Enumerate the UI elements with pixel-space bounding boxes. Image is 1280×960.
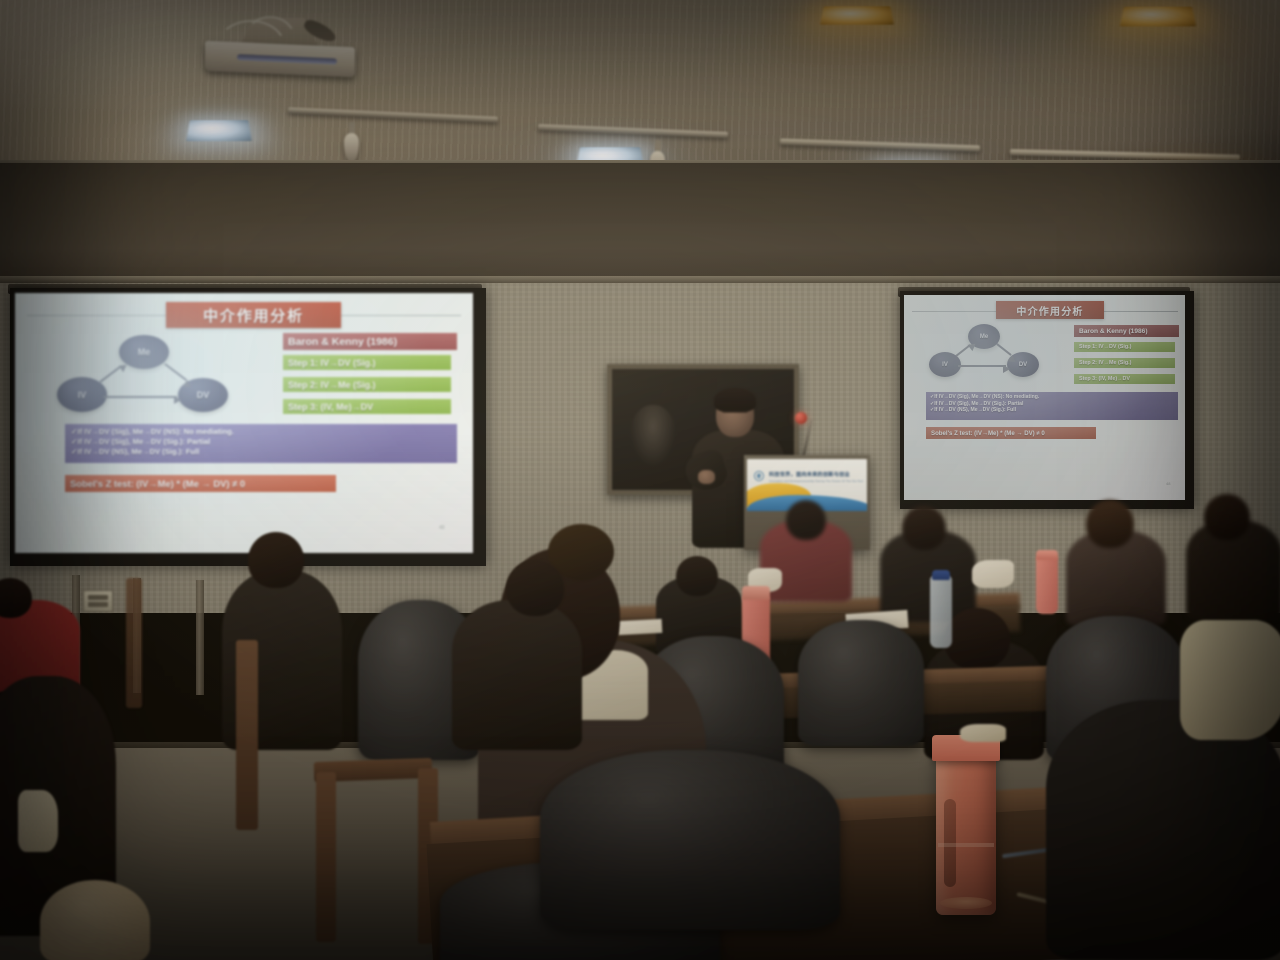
wall-panel-strip (196, 580, 204, 695)
slide-page-number: 48 (1166, 481, 1170, 486)
thermos-cap (742, 586, 770, 600)
person-head (1204, 494, 1250, 540)
ceiling-texture (0, 0, 1280, 170)
panel-light-5 (1120, 7, 1196, 27)
ceiling-projector (199, 18, 359, 74)
podium-headline: 科技世界，面向未来的创新与创业 (769, 471, 863, 478)
condition-line-3: ✓If IV→DV (NS), Me→DV (Sig.): Full (930, 407, 1174, 414)
person-head-foreground (40, 880, 150, 960)
edge-iv-dv-head (1003, 365, 1010, 373)
speaker-glasses (722, 408, 748, 413)
person-head (506, 560, 564, 616)
thermos-cap (1036, 550, 1058, 560)
person-torso (452, 600, 582, 750)
power-outlet (83, 590, 113, 612)
projection-screen-right-frame: 中介作用分析 Me IV DV Baron & Kenny (1986) Ste… (900, 291, 1194, 509)
thermos-pink-right (1036, 556, 1058, 614)
step-bar-3: Step 3: (IV, Me)→DV (283, 399, 451, 414)
reference-bar: Baron & Kenny (1986) (1074, 325, 1179, 337)
conditions-box: ✓If IV→DV (Sig), Me→DV (NS): No mediatin… (926, 392, 1178, 420)
panel-light-warm-top (820, 6, 894, 25)
bottle-base-glow (940, 897, 992, 909)
tissue-cluster (972, 560, 1014, 588)
paper-sheet (618, 619, 663, 635)
person-head (676, 556, 718, 596)
microphone-indicator-icon (795, 412, 807, 424)
chair-back (798, 620, 924, 746)
condition-line-1: ✓If IV→DV (Sig), Me→DV (NS): No mediatin… (930, 394, 1174, 401)
condition-line-1: ✓If IV→DV (Sig), Me→DV (NS): No mediatin… (71, 427, 451, 437)
slide-left: 中介作用分析 Me IV DV Baron & Kenny (1986) Ste… (15, 293, 473, 553)
person-patterned-garment (1180, 620, 1280, 740)
edge-me-dv (997, 343, 1012, 355)
condition-line-3: ✓If IV→DV (NS), Me→DV (Sig.): Full (71, 447, 451, 457)
slide-right: 中介作用分析 Me IV DV Baron & Kenny (1986) Ste… (904, 295, 1185, 500)
reference-bar: Baron & Kenny (1986) (283, 333, 457, 350)
condition-line-2: ✓If IV→DV (Sig), Me→DV (Sig.): Partial (71, 437, 451, 447)
projector-body (205, 41, 355, 78)
chair-back-foreground (540, 750, 840, 930)
step-bar-2: Step 2: IV→Me (Sig.) (283, 377, 451, 392)
projection-screen-right: 中介作用分析 Me IV DV Baron & Kenny (1986) Ste… (904, 295, 1185, 500)
edge-iv-dv (103, 396, 177, 398)
step-bar-1: Step 1: IV→DV (Sig.) (1074, 342, 1175, 352)
step-bar-1: Step 1: IV→DV (Sig.) (283, 355, 451, 370)
sobel-bar: Sobel's Z test: (IV→Me) * (Me → DV) ≠ 0 (65, 475, 336, 492)
edge-iv-dv (958, 365, 1006, 367)
wall-display-reflection (630, 405, 676, 467)
edge-iv-dv-head (174, 396, 181, 404)
conditions-box: ✓If IV→DV (Sig), Me→DV (NS): No mediatin… (65, 424, 457, 463)
wood-chair-leg (236, 640, 258, 830)
wood-chair-leg (316, 772, 336, 942)
water-bottle-clear (930, 576, 952, 648)
person-head (248, 532, 304, 588)
tissue-behind-bottle (960, 724, 1006, 742)
speaker-hand (698, 470, 715, 484)
podium-subline: Innovation and Entrepreneurship Facing T… (769, 479, 863, 483)
step-bar-2: Step 2: IV→Me (Sig.) (1074, 358, 1175, 368)
projection-screen-left-frame: 中介作用分析 Me IV DV Baron & Kenny (1986) Ste… (10, 288, 486, 566)
wood-chair-leg (126, 578, 142, 708)
slide-page-number: 48 (439, 525, 445, 531)
projector-lens (237, 54, 337, 64)
ceiling (0, 0, 1280, 170)
bottle-pink-foreground (936, 755, 996, 915)
person-head (944, 608, 1010, 670)
person-head (786, 500, 826, 540)
lecture-hall-photo: 中介作用分析 Me IV DV Baron & Kenny (1986) Ste… (0, 0, 1280, 960)
step-bar-3: Step 3: (IV, Me)→DV (1074, 374, 1175, 384)
slide-projection-glow (15, 293, 473, 553)
person-paper (18, 790, 58, 852)
water-bottle-cap (932, 570, 950, 580)
slide-title-banner: 中介作用分析 (166, 302, 341, 328)
podium-logo-icon: ⓔ (754, 472, 765, 483)
edge-me-dv (165, 363, 187, 380)
sobel-bar: Sobel's Z test: (IV→Me) * (Me → DV) ≠ 0 (926, 427, 1096, 439)
edge-iv-me (100, 366, 122, 383)
bottle-waterline (938, 843, 994, 847)
slide-title-banner: 中介作用分析 (996, 301, 1104, 319)
panel-light-1 (186, 120, 252, 141)
person-head (902, 506, 946, 550)
person-head (1086, 500, 1134, 548)
projection-screen-left: 中介作用分析 Me IV DV Baron & Kenny (1986) Ste… (15, 293, 473, 553)
upper-wall-dark-band (0, 163, 1280, 285)
